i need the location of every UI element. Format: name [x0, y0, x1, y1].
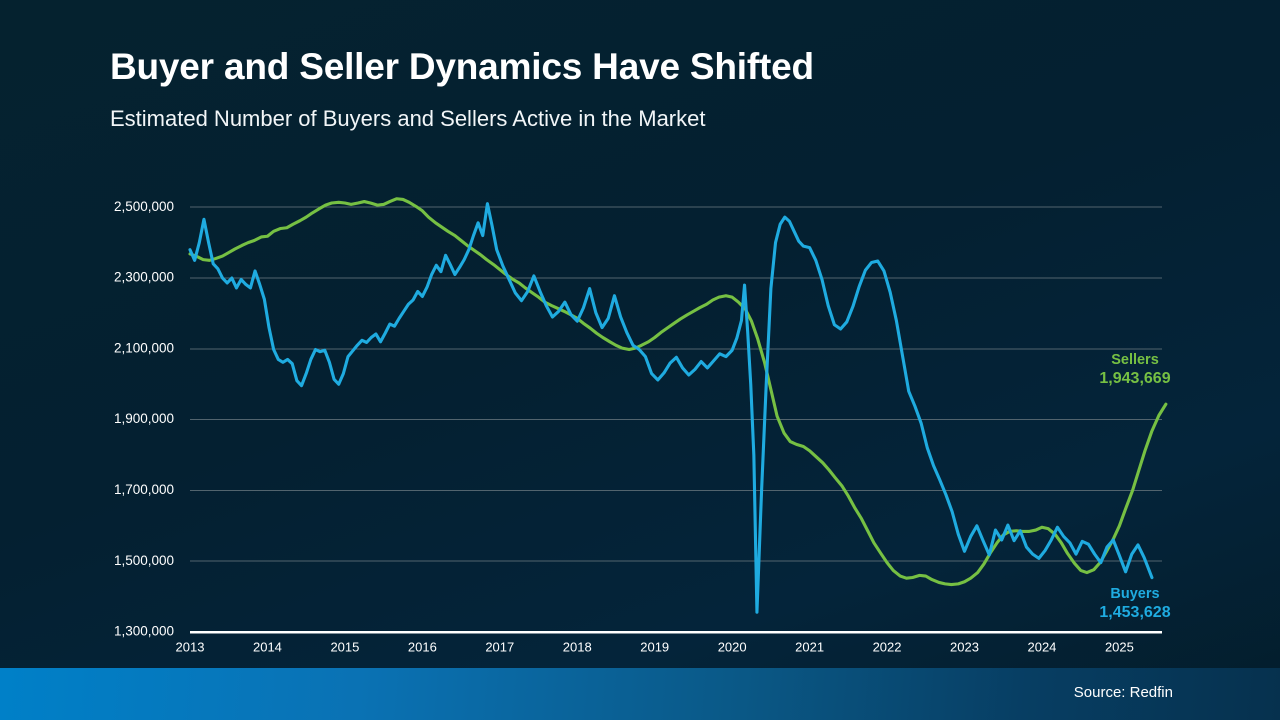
line-chart: 1,300,0001,500,0001,700,0001,900,0002,10…: [0, 0, 1280, 668]
x-axis-tick-label: 2021: [795, 640, 824, 655]
slide-root: Buyer and Seller Dynamics Have Shifted E…: [0, 0, 1280, 720]
footer-bar: Source: Redfin: [0, 668, 1280, 720]
x-axis-tick-label: 2024: [1027, 640, 1056, 655]
data-series: [190, 199, 1166, 612]
y-axis-tick-label: 2,500,000: [114, 199, 174, 214]
x-axis-labels: 2013201420152016201720182019202020212022…: [176, 640, 1134, 655]
x-axis-tick-label: 2019: [640, 640, 669, 655]
y-axis-tick-label: 1,900,000: [114, 411, 174, 426]
series-value-buyers: 1,453,628: [1099, 604, 1170, 621]
series-label-sellers: Sellers: [1111, 352, 1159, 368]
x-axis-tick-label: 2018: [563, 640, 592, 655]
series-line-buyers: [190, 204, 1152, 612]
y-axis-tick-label: 1,700,000: [114, 482, 174, 497]
series-value-sellers: 1,943,669: [1099, 370, 1170, 387]
chart-container: 1,300,0001,500,0001,700,0001,900,0002,10…: [0, 0, 1280, 668]
x-axis-tick-label: 2015: [330, 640, 359, 655]
gridlines: [190, 207, 1162, 561]
source-label: Source: Redfin: [1074, 684, 1173, 701]
x-axis-tick-label: 2014: [253, 640, 282, 655]
y-axis-tick-label: 2,100,000: [114, 340, 174, 355]
x-axis-tick-label: 2016: [408, 640, 437, 655]
series-label-buyers: Buyers: [1110, 586, 1159, 602]
x-axis-tick-label: 2013: [176, 640, 205, 655]
x-axis-tick-label: 2017: [485, 640, 514, 655]
x-axis-tick-label: 2023: [950, 640, 979, 655]
x-axis-tick-label: 2022: [873, 640, 902, 655]
y-axis-labels: 1,300,0001,500,0001,700,0001,900,0002,10…: [114, 199, 174, 639]
x-axis-tick-label: 2020: [718, 640, 747, 655]
series-line-sellers: [190, 199, 1166, 585]
x-axis-tick-label: 2025: [1105, 640, 1134, 655]
y-axis-tick-label: 1,500,000: [114, 553, 174, 568]
y-axis-tick-label: 2,300,000: [114, 270, 174, 285]
y-axis-tick-label: 1,300,000: [114, 624, 174, 639]
